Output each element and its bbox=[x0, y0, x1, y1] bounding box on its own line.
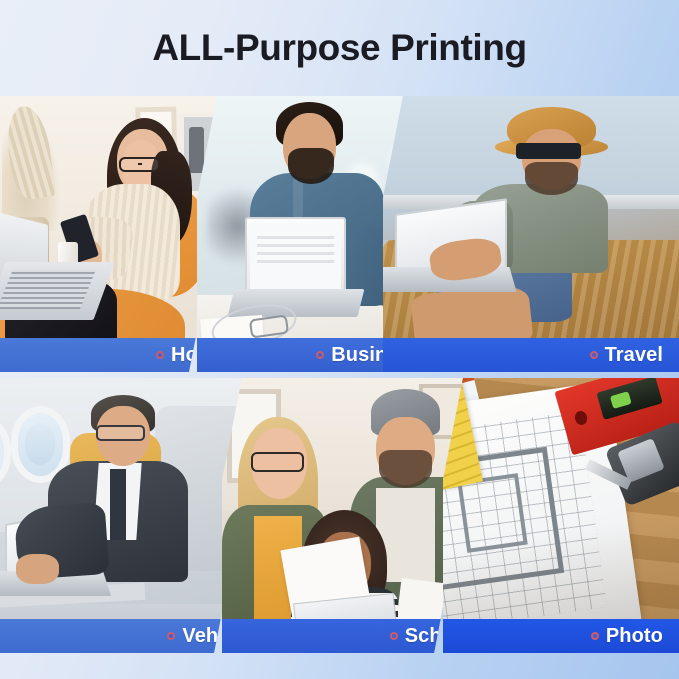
circle-bullet-icon bbox=[591, 632, 599, 640]
title-bar: ALL-Purpose Printing bbox=[0, 0, 679, 96]
photo-photo bbox=[443, 378, 679, 653]
circle-bullet-icon bbox=[590, 351, 598, 359]
circle-bullet-icon bbox=[156, 351, 164, 359]
panel-row-bottom: Vehicle bbox=[0, 378, 679, 653]
label-bar-travel[interactable]: Travel bbox=[383, 338, 679, 372]
panel-label-travel: Travel bbox=[605, 344, 663, 367]
circle-bullet-icon bbox=[167, 632, 175, 640]
panel-row-top: Home bbox=[0, 96, 679, 372]
all-purpose-printing-banner: ALL-Purpose Printing bbox=[0, 0, 679, 679]
panel-photo[interactable]: Photo bbox=[443, 378, 679, 653]
label-bar-photo[interactable]: Photo bbox=[443, 619, 679, 653]
page-title: ALL-Purpose Printing bbox=[152, 27, 526, 69]
panel-label-photo: Photo bbox=[606, 625, 663, 648]
circle-bullet-icon bbox=[316, 351, 324, 359]
circle-bullet-icon bbox=[390, 632, 398, 640]
photo-travel bbox=[383, 96, 679, 372]
panel-travel[interactable]: Travel bbox=[383, 96, 679, 372]
